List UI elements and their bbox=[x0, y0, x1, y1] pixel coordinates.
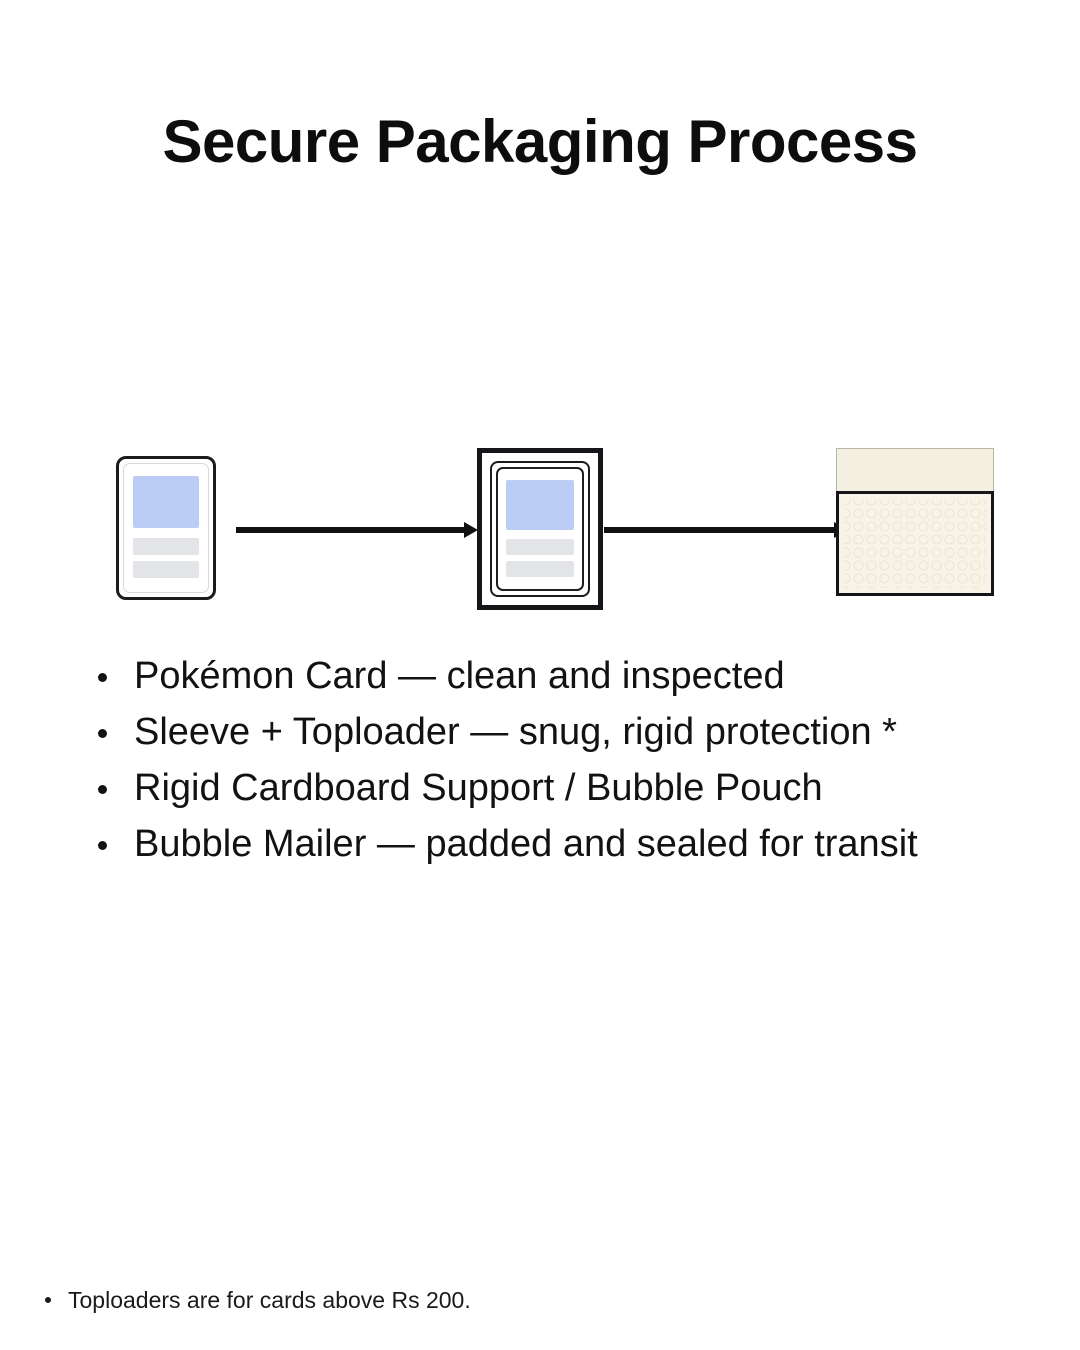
mailer-flap bbox=[836, 448, 994, 492]
list-item-label: Pokémon Card — clean and inspected bbox=[134, 655, 785, 697]
footnote-label: Toploaders are for cards above Rs 200. bbox=[68, 1287, 471, 1313]
arrow-shaft bbox=[604, 527, 836, 533]
packaging-steps-list: Pokémon Card — clean and inspected Sleev… bbox=[88, 648, 1048, 872]
card-artwork-area bbox=[506, 480, 574, 530]
list-item: Bubble Mailer — padded and sealed for tr… bbox=[88, 816, 1048, 872]
card-outer-border bbox=[116, 456, 216, 600]
list-item-label: Bubble Mailer — padded and sealed for tr… bbox=[134, 823, 918, 865]
card-text-line-2 bbox=[133, 561, 199, 578]
card-inner-border bbox=[123, 463, 209, 593]
bullet-dot-icon bbox=[98, 785, 107, 794]
card-inside-toploader bbox=[496, 467, 584, 591]
diagram-step-sleeve-toploader bbox=[477, 448, 603, 610]
list-item-label: Sleeve + Toploader — snug, rigid protect… bbox=[134, 711, 897, 753]
list-item: Rigid Cardboard Support / Bubble Pouch bbox=[88, 760, 1048, 816]
bullet-dot-icon bbox=[98, 673, 107, 682]
card-artwork-area bbox=[133, 476, 199, 528]
bubble-wrap-texture-icon bbox=[839, 494, 991, 593]
bullet-dot-icon bbox=[45, 1297, 51, 1303]
bullet-dot-icon bbox=[98, 841, 107, 850]
page-title: Secure Packaging Process bbox=[0, 108, 1080, 175]
footnote-item: Toploaders are for cards above Rs 200. bbox=[36, 1283, 936, 1317]
arrow-toploader-to-mailer-icon bbox=[604, 519, 848, 541]
diagram-step-pokemon-card bbox=[116, 456, 216, 600]
card-text-line-1 bbox=[506, 539, 574, 555]
mailer-body bbox=[836, 491, 994, 596]
list-item-label: Rigid Cardboard Support / Bubble Pouch bbox=[134, 767, 823, 809]
diagram-step-bubble-mailer bbox=[836, 448, 994, 596]
bullet-dot-icon bbox=[98, 729, 107, 738]
list-item: Sleeve + Toploader — snug, rigid protect… bbox=[88, 704, 1048, 760]
list-item: Pokémon Card — clean and inspected bbox=[88, 648, 1048, 704]
arrow-shaft bbox=[236, 527, 466, 533]
arrow-card-to-toploader-icon bbox=[236, 519, 478, 541]
card-text-line-1 bbox=[133, 538, 199, 555]
card-text-line-2 bbox=[506, 561, 574, 577]
arrow-head bbox=[464, 522, 478, 538]
footnote-list: Toploaders are for cards above Rs 200. bbox=[36, 1283, 936, 1317]
